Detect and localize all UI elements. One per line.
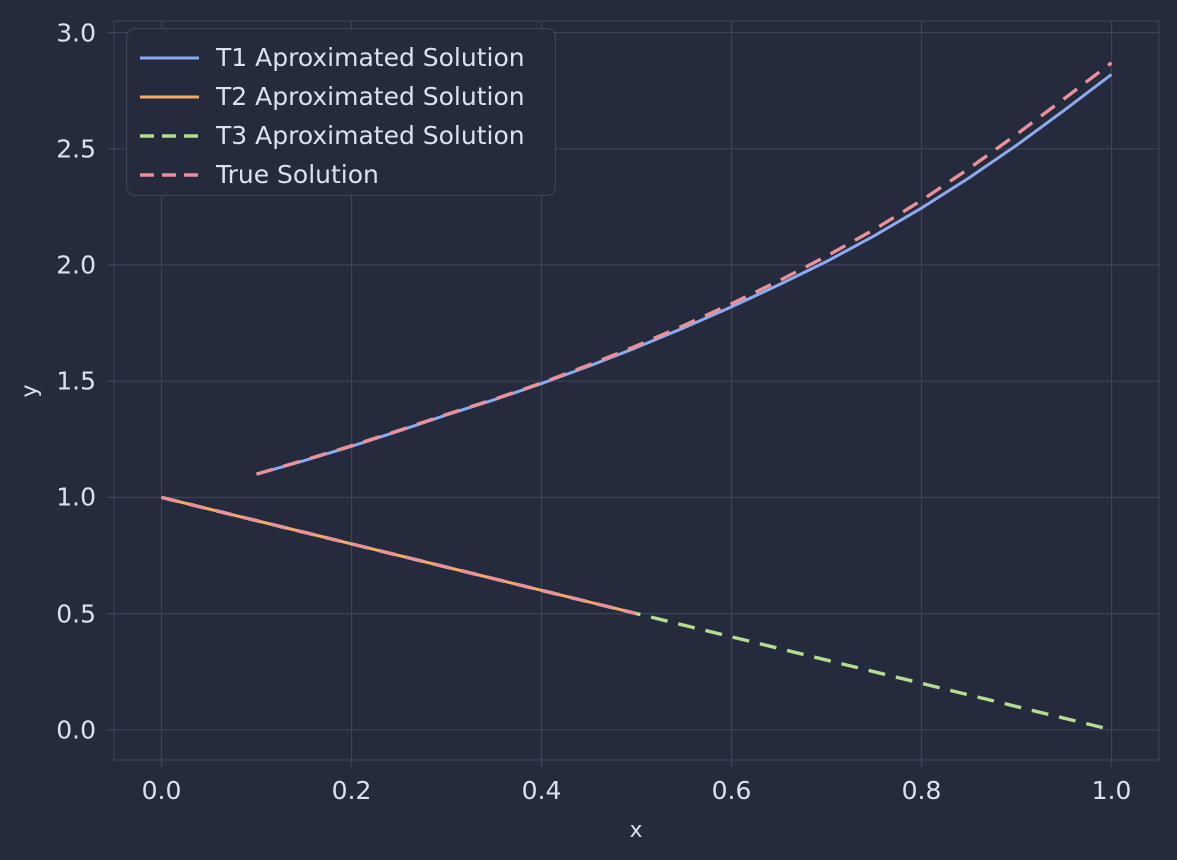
legend-entry-true-solution[interactable]: True Solution	[139, 155, 379, 194]
y-tick-label: 0.0	[0, 715, 96, 744]
y-tick-label: 2.0	[0, 251, 96, 280]
legend-swatch-icon	[139, 124, 200, 148]
legend-label: T1 Aproximated Solution	[216, 45, 525, 70]
x-tick-label: 0.2	[332, 776, 372, 805]
legend-entry-t2-aproximated-solution[interactable]: T2 Aproximated Solution	[139, 77, 525, 116]
legend-swatch-icon	[139, 85, 200, 109]
legend[interactable]: T1 Aproximated SolutionT2 Aproximated So…	[126, 28, 556, 196]
x-axis-label: x	[629, 818, 642, 843]
y-tick-label: 1.5	[0, 367, 96, 396]
legend-label: True Solution	[216, 162, 379, 187]
legend-swatch-icon	[139, 46, 200, 70]
x-tick-label: 0.4	[522, 776, 562, 805]
legend-label: T3 Aproximated Solution	[216, 123, 525, 148]
x-tick-label: 0.8	[902, 776, 942, 805]
legend-entry-t3-aproximated-solution[interactable]: T3 Aproximated Solution	[139, 116, 525, 155]
x-tick-label: 0.6	[712, 776, 752, 805]
y-tick-label: 3.0	[0, 18, 96, 47]
y-tick-label: 1.0	[0, 483, 96, 512]
y-tick-label: 0.5	[0, 599, 96, 628]
legend-swatch-icon	[139, 163, 200, 187]
legend-entry-t1-aproximated-solution[interactable]: T1 Aproximated Solution	[139, 38, 525, 77]
x-tick-label: 1.0	[1092, 776, 1132, 805]
legend-label: T2 Aproximated Solution	[216, 84, 525, 109]
y-axis-label: y	[18, 384, 43, 397]
y-tick-label: 2.5	[0, 134, 96, 163]
matplotlib-figure: 0.00.20.40.60.81.0 0.00.51.01.52.02.53.0…	[0, 0, 1177, 860]
x-tick-label: 0.0	[142, 776, 182, 805]
